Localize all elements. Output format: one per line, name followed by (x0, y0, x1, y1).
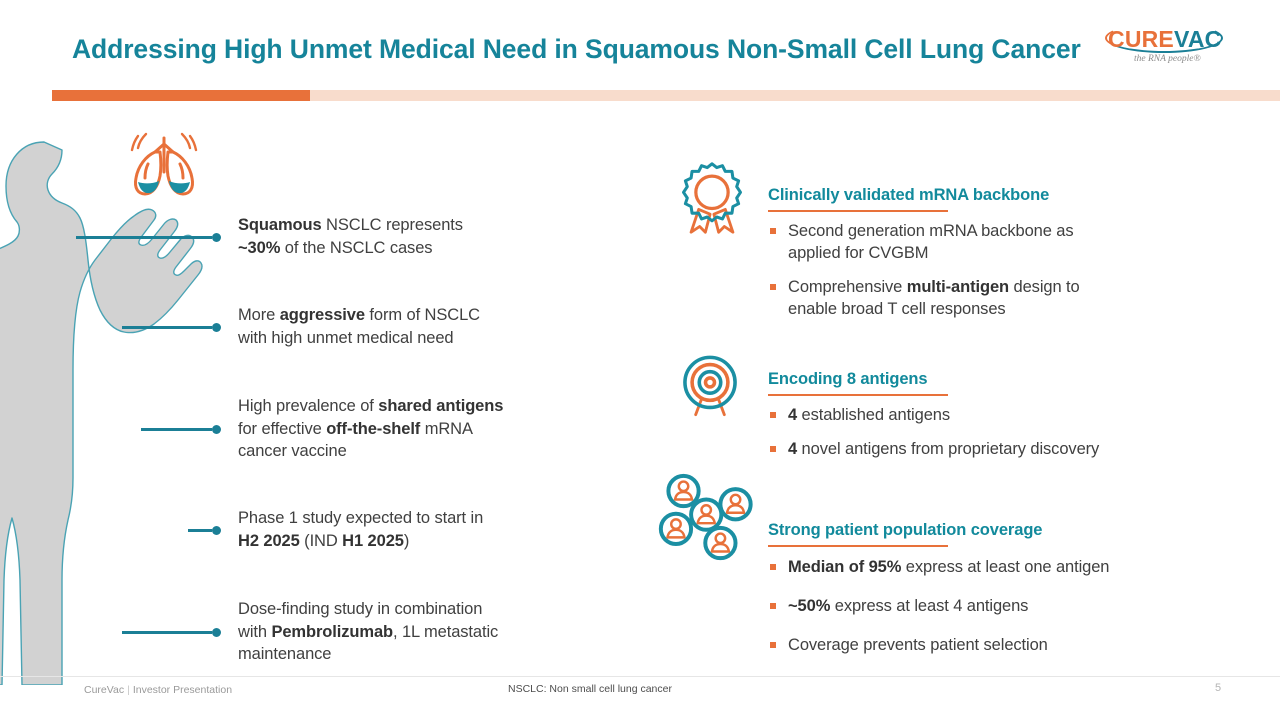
section-bullet-list: Second generation mRNA backbone asapplie… (768, 220, 1208, 332)
callout-dot (212, 323, 221, 332)
list-item: Second generation mRNA backbone asapplie… (768, 220, 1208, 264)
accent-bar (52, 90, 1280, 101)
footer-company: CureVac (84, 684, 124, 696)
page-title: Addressing High Unmet Medical Need in Sq… (72, 34, 1092, 65)
target-bullseye-icon (674, 352, 746, 425)
list-item: Coverage prevents patient selection (768, 634, 1238, 656)
logo-tagline: the RNA people® (1134, 54, 1201, 64)
callout-dot (212, 233, 221, 242)
page-number: 5 (1215, 682, 1221, 694)
callout-text: Squamous NSCLC represents~30% of the NSC… (238, 214, 638, 259)
bullet-square-icon (770, 228, 776, 234)
list-item: Median of 95% express at least one antig… (768, 556, 1238, 578)
bullet-square-icon (770, 412, 776, 418)
section-underline (768, 394, 948, 396)
footer-divider (0, 676, 1280, 677)
logo-vac: VAC (1174, 26, 1221, 52)
human-body-silhouette (0, 140, 207, 685)
footer-presentation: Investor Presentation (133, 684, 232, 696)
callout-text: Dose-finding study in combinationwith Pe… (238, 598, 658, 666)
callout-dot (212, 628, 221, 637)
slide-root: Addressing High Unmet Medical Need in Sq… (0, 0, 1280, 720)
callout-line (76, 236, 212, 239)
curevac-logo: CUREVAC the RNA people® (1108, 24, 1234, 78)
list-item: 4 established antigens (768, 404, 1228, 426)
callout-text: Phase 1 study expected to start inH2 202… (238, 507, 638, 552)
list-item: 4 novel antigens from proprietary discov… (768, 438, 1228, 460)
footer-separator: | (124, 684, 133, 696)
bullet-square-icon (770, 564, 776, 570)
callout-text: More aggressive form of NSCLCwith high u… (238, 304, 638, 349)
list-item: ~50% express at least 4 antigens (768, 595, 1238, 617)
section-heading: Strong patient population coverage (768, 521, 1042, 540)
bullet-square-icon (770, 446, 776, 452)
footer-attribution: CureVac|Investor Presentation (84, 684, 232, 696)
section-heading: Encoding 8 antigens (768, 370, 927, 389)
callout-line (122, 326, 212, 329)
bullet-square-icon (770, 603, 776, 609)
callout-line (188, 529, 212, 532)
callout-line (122, 631, 212, 634)
section-bullet-list: Median of 95% express at least one antig… (768, 556, 1238, 668)
bullet-square-icon (770, 642, 776, 648)
people-group-icon (658, 470, 762, 570)
section-underline (768, 210, 948, 212)
callout-text: High prevalence of shared antigensfor ef… (238, 395, 658, 463)
callout-line (141, 428, 212, 431)
callout-dot (212, 425, 221, 434)
lungs-icon (122, 128, 206, 200)
footer-abbreviation-note: NSCLC: Non small cell lung cancer (508, 683, 672, 695)
logo-wordmark: CUREVAC (1108, 26, 1221, 53)
logo-ure: URE (1125, 26, 1174, 52)
section-bullet-list: 4 established antigens 4 novel antigens … (768, 404, 1228, 472)
callout-dot (212, 526, 221, 535)
bullet-square-icon (770, 284, 776, 290)
award-ribbon-icon (674, 160, 750, 241)
section-underline (768, 545, 948, 547)
section-heading: Clinically validated mRNA backbone (768, 186, 1049, 205)
accent-bar-fill (52, 90, 310, 101)
list-item: Comprehensive multi-antigen design toena… (768, 276, 1208, 320)
